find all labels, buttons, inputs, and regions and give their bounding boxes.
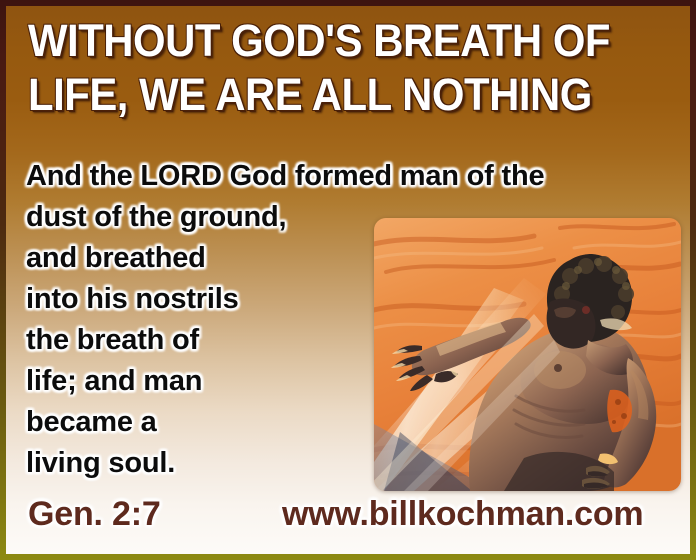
poster-footer: Gen. 2:7 www.billkochman.com [6,494,690,542]
title-line-2: LIFE, WE ARE ALL NOTHING [28,68,644,122]
scripture-poster: WITHOUT GOD'S BREATH OF LIFE, WE ARE ALL… [0,0,696,560]
scripture-verse-text: And the LORD God formed man of the dust … [26,156,426,484]
verse-line-8: living soul. [26,443,426,484]
title-line-1: WITHOUT GOD'S BREATH OF [28,14,644,68]
verse-line-5: the breath of [26,320,426,361]
verse-line-1: And the LORD God formed man of the [26,156,426,197]
website-url[interactable]: www.billkochman.com [282,494,643,534]
verse-line-6: life; and man [26,361,426,402]
scripture-reference: Gen. 2:7 [28,494,161,534]
verse-line-3: and breathed [26,238,426,279]
poster-background-gradient: WITHOUT GOD'S BREATH OF LIFE, WE ARE ALL… [6,6,690,554]
verse-line-4: into his nostrils [26,279,426,320]
verse-line-7: became a [26,402,426,443]
verse-line-2: dust of the ground, [26,197,426,238]
poster-title: WITHOUT GOD'S BREATH OF LIFE, WE ARE ALL… [6,14,690,122]
